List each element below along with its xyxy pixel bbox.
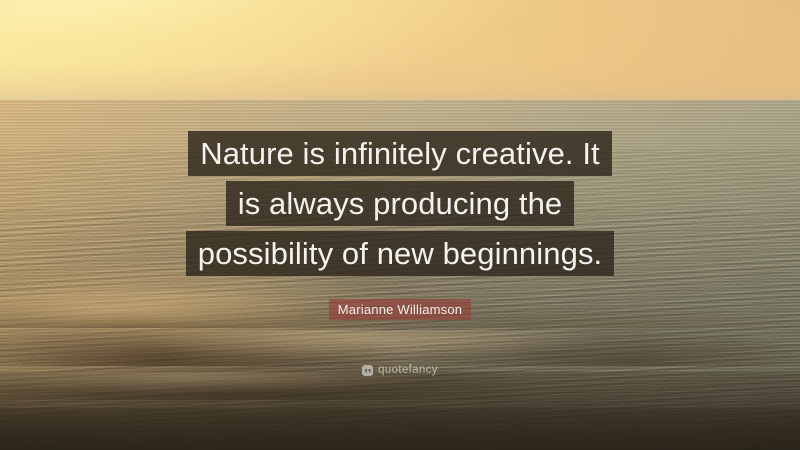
author-name: Marianne Williamson bbox=[329, 299, 471, 320]
author-attribution: Marianne Williamson bbox=[0, 299, 800, 320]
quote-line-3-text: possibility of new beginnings. bbox=[186, 231, 615, 276]
quote-text-block: Nature is infinitely creative. It is alw… bbox=[0, 131, 800, 276]
quote-line: possibility of new beginnings. bbox=[0, 231, 800, 276]
quote-mark-icon bbox=[362, 365, 373, 376]
watermark: quotefancy bbox=[0, 364, 800, 377]
quote-line-1-text: Nature is infinitely creative. It bbox=[188, 131, 612, 176]
quote-line-2-text: is always producing the bbox=[226, 181, 575, 226]
wave-foreground bbox=[0, 408, 800, 450]
quote-line: is always producing the bbox=[0, 181, 800, 226]
watermark-brand: quotefancy bbox=[378, 364, 438, 377]
quote-line: Nature is infinitely creative. It bbox=[0, 131, 800, 176]
quote-poster: Nature is infinitely creative. It is alw… bbox=[0, 0, 800, 450]
